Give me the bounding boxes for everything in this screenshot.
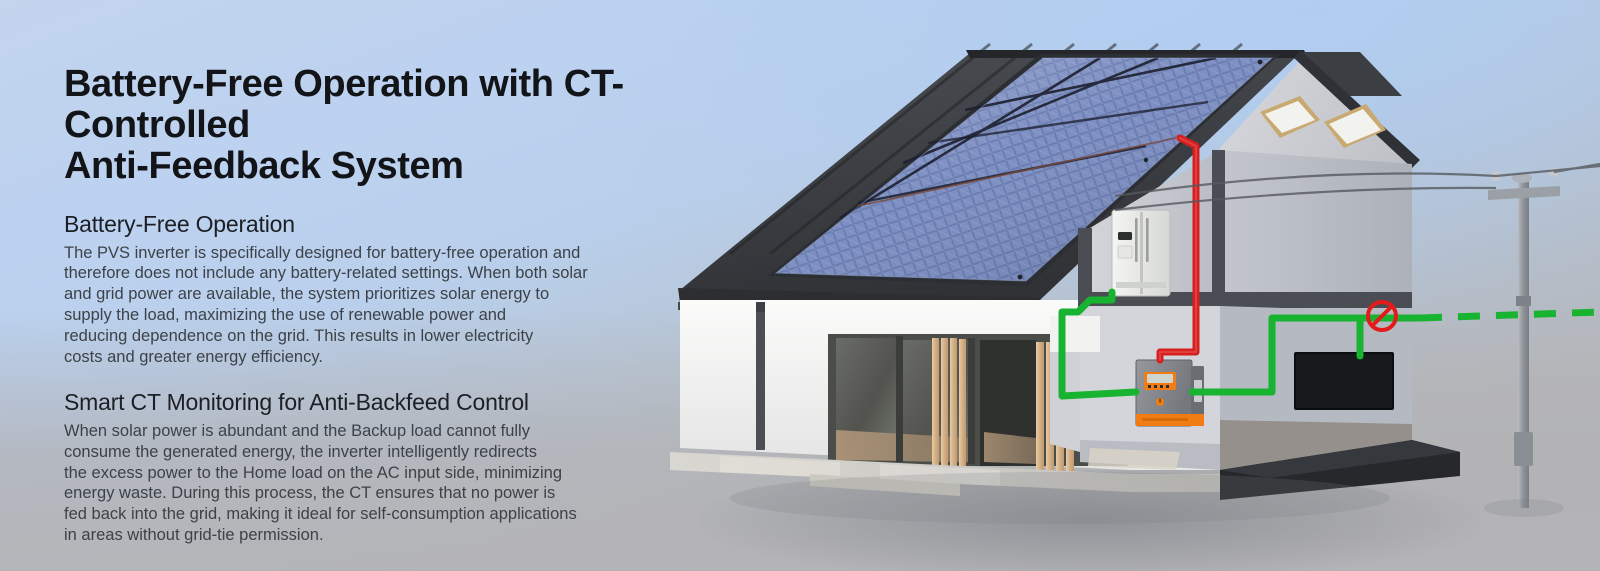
section-heading: Smart CT Monitoring for Anti-Backfeed Co…	[64, 389, 704, 417]
house-illustration	[660, 0, 1600, 571]
downpipe	[756, 302, 765, 450]
upper-room-wall-right	[1220, 150, 1412, 300]
pole-crossarm	[1488, 186, 1560, 200]
house-contact-shadow	[730, 472, 1390, 524]
section-body: When solar power is abundant and the Bac…	[64, 421, 704, 546]
section-battery-free-operation: Battery-Free Operation The PVS inverter …	[64, 211, 704, 367]
utility-pole	[1488, 167, 1560, 508]
section-smart-ct-monitoring: Smart CT Monitoring for Anti-Backfeed Co…	[64, 389, 704, 545]
refrigerator-load	[1112, 210, 1170, 296]
television-load	[1294, 352, 1394, 410]
wall-niche	[1050, 316, 1100, 352]
section-heading: Battery-Free Operation	[64, 211, 704, 239]
pole-contact-shadow	[1484, 499, 1564, 517]
section-body: The PVS inverter is specifically designe…	[64, 243, 704, 368]
downpipe-elbow	[756, 302, 765, 312]
grid-feed-blocked	[1420, 312, 1600, 318]
text-column: Battery-Free Operation with CT-Controlle…	[64, 64, 704, 546]
page-title: Battery-Free Operation with CT-Controlle…	[64, 64, 704, 187]
promo-banner: Battery-Free Operation with CT-Controlle…	[0, 0, 1600, 571]
